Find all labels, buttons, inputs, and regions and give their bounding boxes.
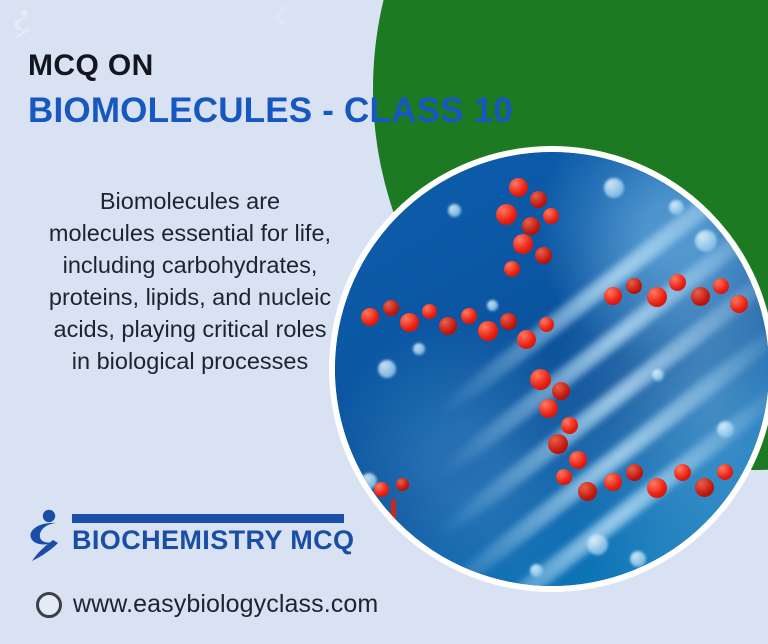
nucleotide-bead: [669, 274, 686, 291]
poster-canvas: MCQ ON BIOMOLECULES - CLASS 10 Biomolecu…: [0, 0, 768, 644]
free-molecule-bead: [374, 482, 389, 497]
circle-bullet-icon: [36, 592, 62, 618]
brand-rule-divider: [72, 514, 344, 523]
nucleotide-bead: [504, 261, 520, 277]
dna-photo-circle: [329, 146, 768, 592]
nucleotide-bead: [626, 464, 643, 481]
nucleotide-bead: [604, 473, 622, 491]
nucleotide-bead: [691, 287, 710, 306]
nucleotide-bead: [674, 464, 691, 481]
nucleotide-bead: [543, 208, 559, 224]
nucleotide-bead: [578, 482, 597, 501]
website-url-row[interactable]: www.easybiologyclass.com: [36, 590, 378, 619]
running-figure-watermark-icon: [10, 8, 36, 42]
description-text: Biomolecules are molecules essential for…: [46, 186, 334, 378]
molecule-sphere: [587, 534, 608, 555]
nucleotide-bead: [500, 313, 517, 330]
headline-block: MCQ ON BIOMOLECULES - CLASS 10: [28, 50, 513, 129]
nucleotide-bead: [383, 300, 399, 316]
free-molecule-bead: [374, 534, 390, 550]
nucleotide-bead: [539, 317, 554, 332]
nucleotide-bead: [530, 191, 547, 208]
page-title: BIOMOLECULES - CLASS 10: [28, 92, 513, 129]
eyebrow-text: MCQ ON: [28, 50, 513, 82]
nucleotide-bead: [522, 217, 540, 235]
nucleotide-bead: [535, 247, 552, 264]
nucleotide-bead: [496, 204, 517, 225]
molecule-sphere: [604, 178, 624, 198]
molecule-sphere: [717, 421, 734, 438]
molecule-sphere: [448, 204, 461, 217]
molecule-sphere: [669, 200, 684, 215]
nucleotide-bead: [548, 434, 568, 454]
molecule-sphere: [630, 551, 646, 567]
nucleotide-bead: [713, 278, 729, 294]
nucleotide-bead: [647, 287, 667, 307]
free-molecule-bead: [396, 538, 410, 552]
free-molecule-bead: [396, 478, 409, 491]
nucleotide-bead: [361, 308, 379, 326]
nucleotide-bead: [561, 417, 578, 434]
website-url-text[interactable]: www.easybiologyclass.com: [73, 590, 378, 619]
nucleotide-bead: [552, 382, 570, 400]
brand-text-wrap: BIOCHEMISTRY MCQ: [72, 508, 354, 554]
nucleotide-bead: [569, 451, 587, 469]
nucleotide-bead: [539, 399, 558, 418]
brand-logo-row: BIOCHEMISTRY MCQ: [28, 508, 354, 564]
molecule-sphere: [652, 369, 664, 381]
nucleotide-bead: [461, 308, 477, 324]
molecule-bond: [391, 499, 396, 531]
running-figure-watermark-icon-secondary: [272, 4, 292, 30]
running-figure-logo-icon: [28, 508, 64, 564]
nucleotide-bead: [400, 313, 419, 332]
dna-photo-image: [335, 152, 768, 586]
nucleotide-bead: [717, 464, 733, 480]
molecule-sphere: [378, 360, 396, 378]
brand-name: BIOCHEMISTRY MCQ: [72, 526, 354, 554]
molecule-sphere: [413, 343, 425, 355]
molecule-sphere: [487, 300, 498, 311]
nucleotide-bead: [730, 295, 748, 313]
nucleotide-bead: [478, 321, 498, 341]
nucleotide-bead: [422, 304, 437, 319]
nucleotide-bead: [509, 178, 528, 197]
nucleotide-bead: [695, 478, 714, 497]
nucleotide-bead: [439, 317, 457, 335]
nucleotide-bead: [604, 287, 622, 305]
nucleotide-bead: [513, 234, 533, 254]
nucleotide-bead: [626, 278, 642, 294]
nucleotide-bead: [647, 478, 667, 498]
